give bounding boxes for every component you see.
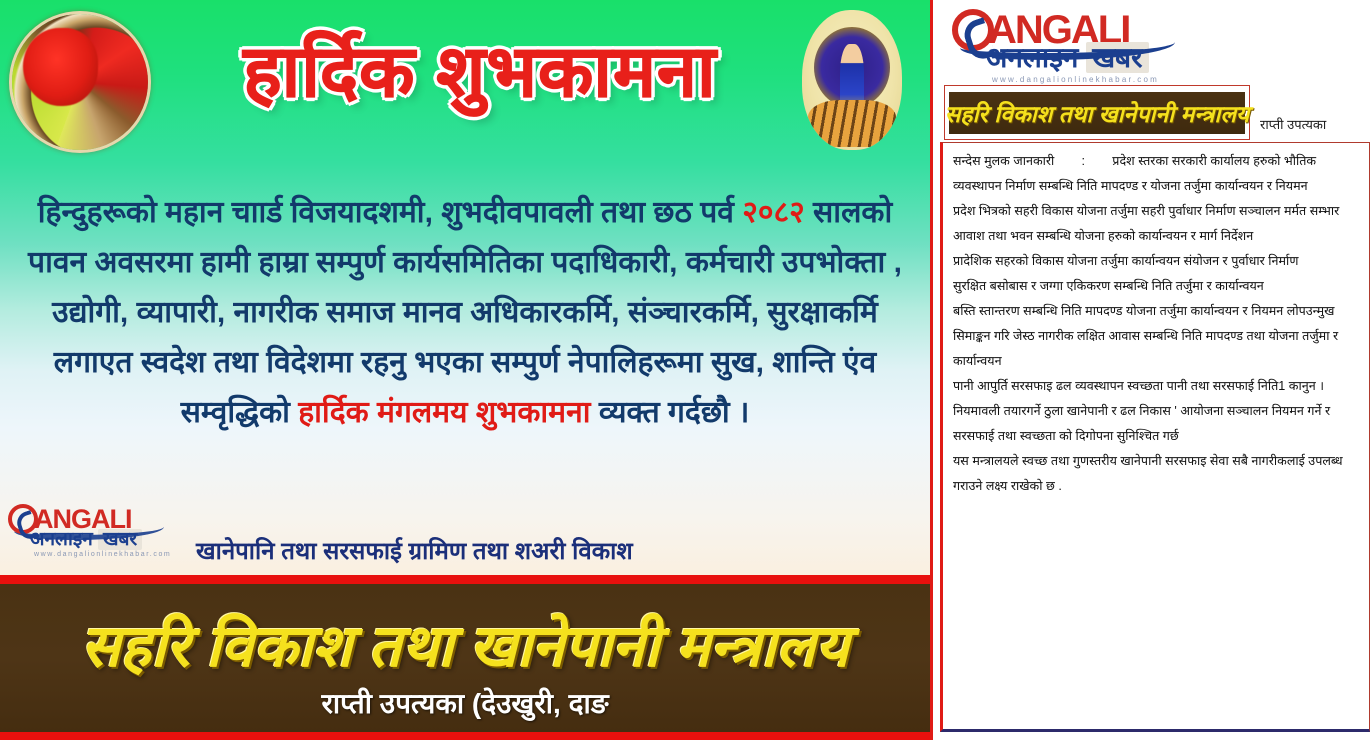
greeting-highlight: हार्दिक मंगलमय शुभकामना (298, 396, 590, 429)
article-logo-d-monogram-icon (952, 9, 994, 51)
ministry-name: सहरि विकाश तथा खानेपानी मन्त्रालय (0, 604, 930, 683)
greeting-panel: हार्दिक शुभकामना हिन्दुहरूको महान चाार्ड… (0, 0, 930, 740)
ministry-location: राप्ती उपत्यका (देउखुरी, दाङ (0, 684, 930, 722)
article-logo-url[interactable]: www.dangalionlinekhabar.com (992, 75, 1232, 84)
greeting-body-line1: हिन्दुहरूको महान चाार्ड विजयादशमी, शुभदी… (38, 196, 743, 229)
article-paragraph-3: सुरक्षित बसोबास र जग्गा एकिकरण सम्बन्धि … (953, 279, 1264, 293)
article-paragraph-2: प्रादेशिक सहरको विकास योजना तर्जुमा कार्… (953, 254, 1298, 268)
logo-url[interactable]: www.dangalionlinekhabar.com (34, 551, 198, 558)
article-paragraph: पानी आपुर्ति सरसफाइ ढल व्यवस्थापन स्वच्छ… (953, 374, 1361, 449)
article-banner-text: सहरि विकाश तथा खानेपानी मन्त्रालय (945, 97, 1250, 129)
article-paragraph-5: पानी आपुर्ति सरसफाइ ढल व्यवस्थापन स्वच्छ… (953, 379, 1330, 443)
article-lead-paragraph: सन्देस मुलक जानकारी:प्रदेश स्तरका सरकारी… (953, 149, 1361, 199)
greeting-body: हिन्दुहरूको महान चाार्ड विजयादशमी, शुभदी… (20, 188, 910, 438)
durga-tiger (808, 100, 896, 148)
dangali-logo[interactable]: ANGALI अनलाइन खबर www.dangalionlinekhaba… (8, 504, 198, 558)
article-dangali-logo[interactable]: ANGALI अनलाइन खबर www.dangalionlinekhaba… (952, 10, 1232, 84)
greeting-body-tail: व्यक्त गर्दछौ । (591, 396, 750, 429)
bottom-red-strip (0, 732, 930, 740)
tika-jamara-plate-icon (12, 14, 148, 150)
panel-divider (930, 0, 933, 740)
article-side-note-line1: राप्ती उपत्यका (1260, 112, 1370, 138)
article-panel: ANGALI अनलाइन खबर www.dangalionlinekhaba… (930, 0, 1372, 740)
department-line: खानेपानि तथा सरसफाई ग्रामिण तथा शअरी विक… (196, 534, 716, 567)
article-lead-colon: : (1054, 149, 1112, 174)
greeting-year: २०८२ (742, 196, 804, 229)
article-ministry-banner-inner: सहरि विकाश तथा खानेपानी मन्त्रालय (949, 92, 1245, 134)
article-ministry-banner: सहरि विकाश तथा खानेपानी मन्त्रालय (944, 85, 1250, 140)
article-paragraph: यस मन्त्रालयले स्वच्छ तथा गुणस्तरीय खाने… (953, 449, 1361, 499)
page-title: हार्दिक शुभकामना (180, 20, 780, 118)
article-lead-label: सन्देस मुलक जानकारी (953, 154, 1054, 168)
logo-d-monogram-icon (8, 504, 38, 534)
article-body: सन्देस मुलक जानकारी:प्रदेश स्तरका सरकारी… (940, 142, 1370, 732)
greeting-body-line2: सालको पावन अवसरमा हामी हाम्रा सम्पुर्ण क… (28, 196, 902, 429)
article-paragraph: सुरक्षित बसोबास र जग्गा एकिकरण सम्बन्धि … (953, 274, 1361, 299)
article-paragraph-6: यस मन्त्रालयले स्वच्छ तथा गुणस्तरीय खाने… (953, 454, 1343, 493)
article-paragraph-4: बस्ति स्तान्तरण सम्बन्धि निति मापदण्ड यो… (953, 304, 1338, 368)
article-paragraph: प्रादेशिक सहरको विकास योजना तर्जुमा कार्… (953, 249, 1361, 274)
divider-red-rule (0, 575, 930, 584)
article-paragraph-1: प्रदेश भित्रको सहरी विकास योजना तर्जुमा … (953, 204, 1339, 243)
goddess-durga-icon (802, 10, 902, 150)
poster-root: हार्दिक शुभकामना हिन्दुहरूको महान चाार्ड… (0, 0, 1372, 740)
article-paragraph: प्रदेश भित्रको सहरी विकास योजना तर्जुमा … (953, 199, 1361, 249)
article-paragraph: बस्ति स्तान्तरण सम्बन्धि निति मापदण्ड यो… (953, 299, 1361, 374)
